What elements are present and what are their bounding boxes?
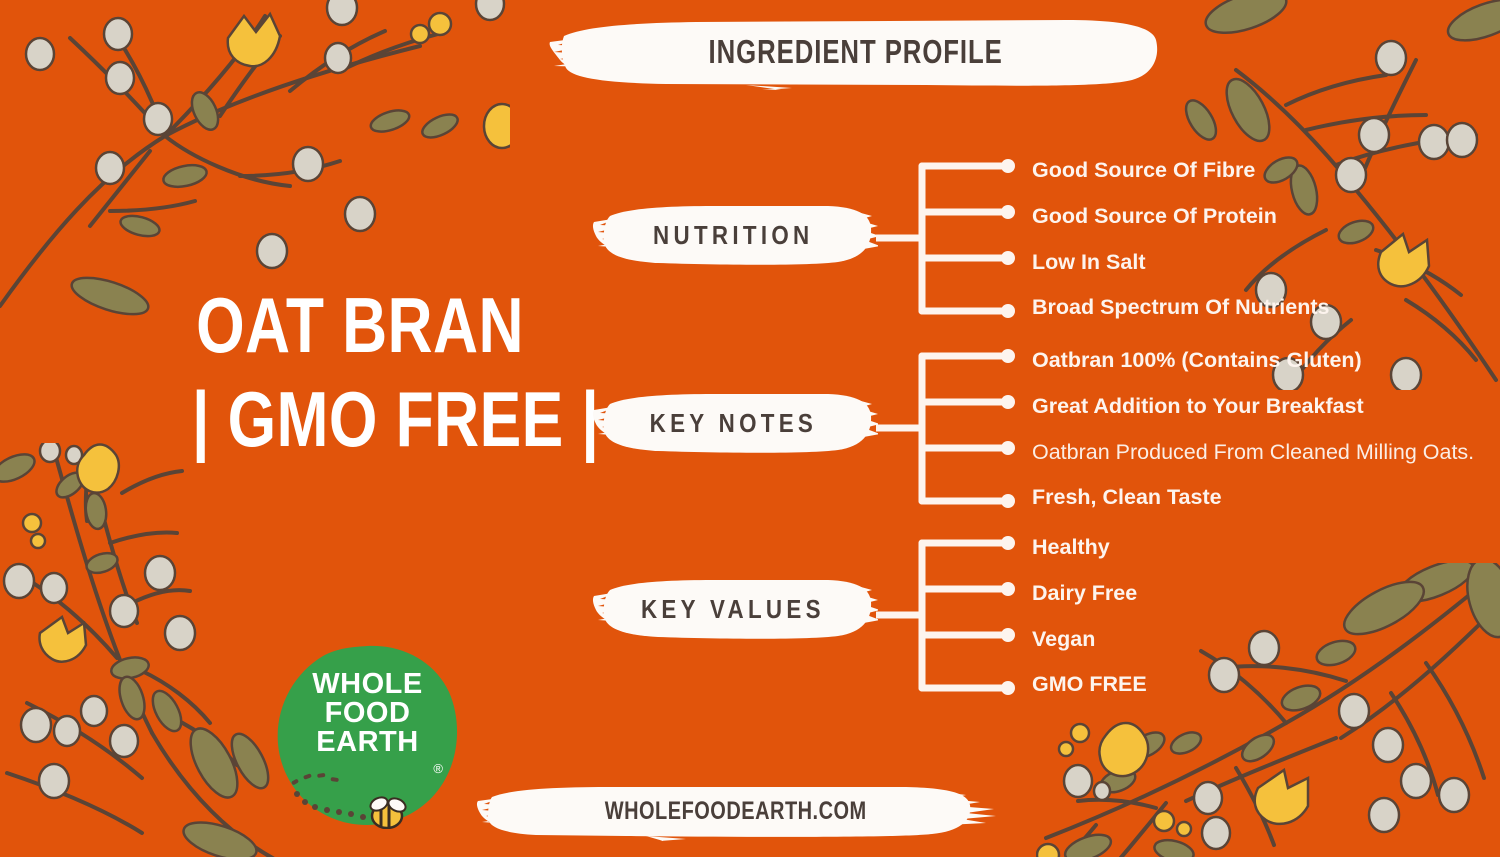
section-label-text: NUTRITION: [653, 220, 813, 251]
logo-line-2: FOOD: [275, 699, 460, 728]
footer-website-link[interactable]: WHOLEFOODEARTH.COM: [605, 797, 867, 826]
list-item: Good Source Of Protein: [1032, 206, 1277, 228]
logo-wordmark: WHOLE FOOD EARTH: [275, 670, 460, 757]
list-item: GMO FREE: [1032, 674, 1147, 696]
product-claim: | GMO FREE |: [192, 380, 528, 460]
list-item: Vegan: [1032, 629, 1095, 651]
product-name: OAT BRAN: [192, 286, 528, 366]
logo-line-1: WHOLE: [275, 670, 460, 699]
list-item: Dairy Free: [1032, 583, 1137, 605]
section-label-nutrition: NUTRITION: [588, 198, 878, 272]
list-item: Oatbran 100% (Contains Gluten): [1032, 350, 1362, 372]
bracket-connector-key-values: [876, 525, 1036, 705]
ingredient-profile-poster: INGREDIENT PROFILE OAT BRAN | GMO FREE |…: [0, 0, 1500, 857]
product-title-block: OAT BRAN | GMO FREE |: [150, 286, 570, 459]
botanical-top-left-icon: [0, 0, 510, 316]
bee-icon: [368, 795, 407, 828]
section-label-text: KEY VALUES: [641, 594, 825, 625]
section-label-key-values: KEY VALUES: [588, 572, 878, 646]
list-item: Good Source Of Fibre: [1032, 160, 1255, 182]
header-banner: INGREDIENT PROFILE: [546, 14, 1166, 90]
list-item: Low In Salt: [1032, 252, 1145, 274]
section-label-text: KEY NOTES: [649, 408, 817, 439]
brand-logo: WHOLE FOOD EARTH ®: [275, 644, 460, 829]
list-item: Fresh, Clean Taste: [1032, 487, 1222, 509]
botanical-bottom-left-icon: [0, 443, 292, 857]
list-item: Oatbran Produced From Cleaned Milling Oa…: [1032, 442, 1474, 464]
logo-line-3: EARTH: [275, 728, 460, 757]
list-item: Great Addition to Your Breakfast: [1032, 396, 1364, 418]
botanical-bottom-right-icon: [1036, 563, 1500, 857]
footer-banner[interactable]: WHOLEFOODEARTH.COM: [476, 781, 996, 841]
registered-trademark-symbol: ®: [433, 761, 443, 776]
botanical-top-right-icon: [1176, 0, 1500, 390]
section-label-key-notes: KEY NOTES: [588, 386, 878, 460]
header-title: INGREDIENT PROFILE: [709, 33, 1003, 71]
list-item: Broad Spectrum Of Nutrients: [1032, 297, 1329, 319]
list-item: Healthy: [1032, 537, 1110, 559]
bracket-connector-key-notes: [876, 338, 1036, 518]
bracket-connector-nutrition: [876, 148, 1036, 328]
